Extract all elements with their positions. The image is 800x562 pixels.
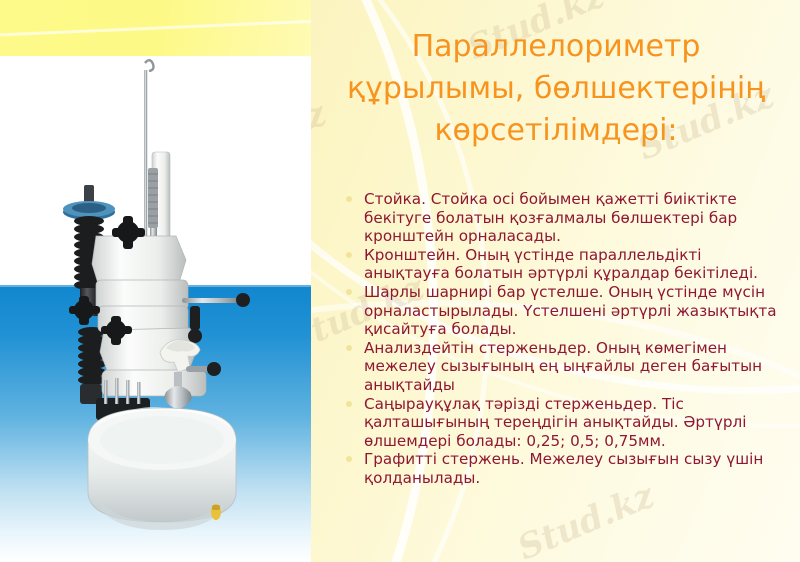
bullet-text: Графитті стержень. Межелеу сызығын сызу … [364,450,788,487]
bullet-dot-icon [346,456,352,462]
parallelometer-illustration [0,0,311,562]
bullet-dot-icon [346,196,352,202]
bullet-text: Стойка. Стойка осі бойымен қажетті биікт… [364,190,788,246]
slide: Stud.kz Stud.kz Stud.kz Stud.kz Stud.kz … [0,0,800,562]
bullet-text: Кронштейн. Оның үстінде параллельдікті а… [364,246,788,283]
bullet-item: Анализдейтін стерженьдер. Оның көмегімен… [338,339,788,395]
bullet-item: Кронштейн. Оның үстінде параллельдікті а… [338,246,788,283]
bullet-dot-icon [346,401,352,407]
bullet-item: Графитті стержень. Межелеу сызығын сызу … [338,450,788,487]
device-photo [0,0,311,562]
bullet-text: Шарлы шарнирі бар үстелше. Оның үстінде … [364,283,788,339]
bullet-item: Стойка. Стойка осі бойымен қажетті биікт… [338,190,788,246]
bullet-text: Саңырауқұлақ тәрізді стерженьдер. Тіс қа… [364,395,788,451]
slide-title: Параллелориметр құрылымы, бөлшектерінің … [318,26,794,152]
title-line-3: көрсетілімдері: [318,110,794,152]
bullet-dot-icon [346,289,352,295]
bullet-item: Саңырауқұлақ тәрізді стерженьдер. Тіс қа… [338,395,788,451]
title-line-1: Параллелориметр [318,26,794,68]
bullet-text: Анализдейтін стерженьдер. Оның көмегімен… [364,339,788,395]
title-line-2: құрылымы, бөлшектерінің [318,68,794,110]
bullet-dot-icon [346,252,352,258]
bullet-dot-icon [346,345,352,351]
bullet-list: Стойка. Стойка осі бойымен қажетті биікт… [338,190,788,488]
bullet-item: Шарлы шарнирі бар үстелше. Оның үстінде … [338,283,788,339]
